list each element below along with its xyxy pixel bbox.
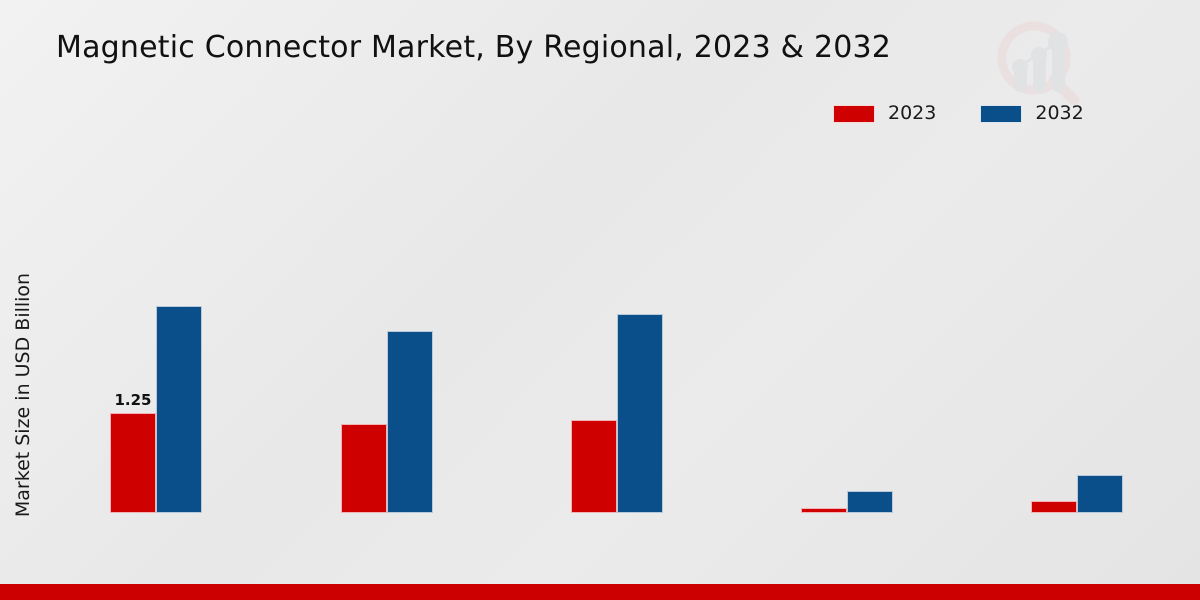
chart-canvas: Magnetic Connector Market, By Regional, … xyxy=(0,0,1200,600)
bar-2023-apac[interactable] xyxy=(571,420,617,513)
bar-group-bars xyxy=(571,0,663,513)
bar-2023-north-america[interactable] xyxy=(110,413,156,513)
bar-group-bars xyxy=(801,0,893,513)
bar-2032-south-america[interactable] xyxy=(847,491,893,513)
legend-swatch-2032 xyxy=(980,105,1022,123)
plot-area: 1.25NORTHAMERICAEUROPEAPACSOUTHAMERICAME… xyxy=(0,150,1200,513)
bar-group-bars xyxy=(1031,0,1123,513)
bar-2023-south-america[interactable] xyxy=(801,508,847,513)
bar-group-bars: 1.25 xyxy=(110,0,202,513)
bar-2023-europe[interactable] xyxy=(341,424,387,513)
bar-2023-mea[interactable] xyxy=(1031,501,1077,513)
bar-2032-mea[interactable] xyxy=(1077,475,1123,513)
bar-value-label: 1.25 xyxy=(110,391,156,409)
legend-label-2023: 2023 xyxy=(888,104,936,123)
bar-2032-north-america[interactable] xyxy=(156,306,202,513)
bar-group-bars xyxy=(341,0,433,513)
footer-accent-bar xyxy=(0,584,1200,600)
bar-2032-europe[interactable] xyxy=(387,331,433,513)
bar-2032-apac[interactable] xyxy=(617,314,663,513)
